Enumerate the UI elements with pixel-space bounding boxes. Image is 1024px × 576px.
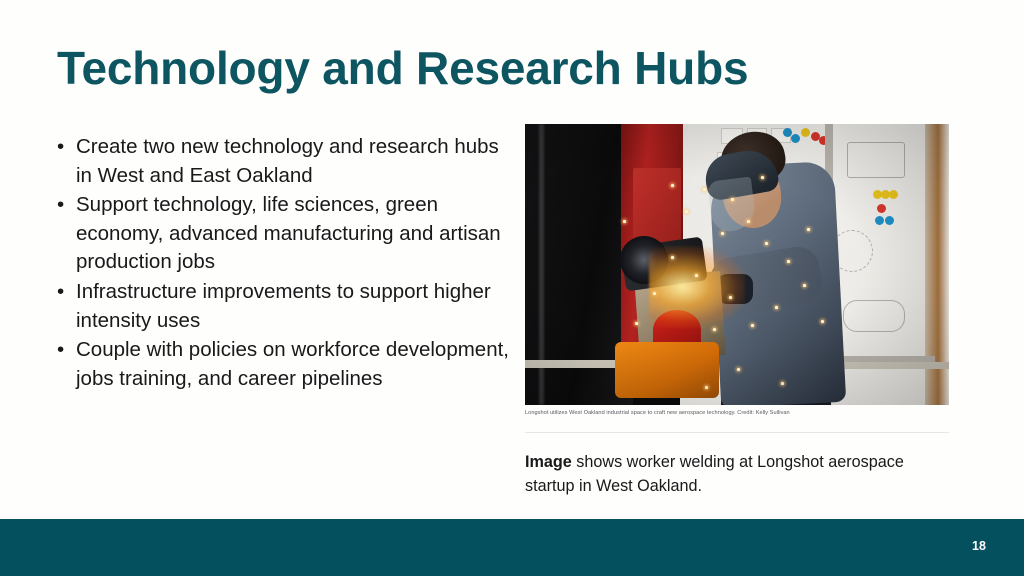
list-item-text: Create two new technology and research h… <box>76 135 499 187</box>
photo-layer-magnet <box>801 128 810 137</box>
photo-layer-spark <box>685 210 688 213</box>
photo-layer-spark <box>729 296 732 299</box>
photo-layer-spark <box>821 320 824 323</box>
photo-layer-spark <box>671 256 674 259</box>
photo-layer-magnet <box>885 216 894 225</box>
photo-credit-caption: Longshot utilizes West Oakland industria… <box>525 409 949 418</box>
photo-layer-magnet <box>889 190 898 199</box>
bullet-marker-icon: • <box>57 191 64 220</box>
photo-layer-spark <box>713 328 716 331</box>
photo-layer-magnet <box>877 204 886 213</box>
photo-layer-spark <box>623 220 626 223</box>
bullet-marker-icon: • <box>57 278 64 307</box>
photo-layer-spark <box>703 188 706 191</box>
photo-layer-vise <box>615 342 719 398</box>
photo-layer-spark <box>653 292 656 295</box>
photo-layer-spark <box>731 198 734 201</box>
photo-layer-magnet <box>791 134 800 143</box>
photo-layer-spark <box>705 386 708 389</box>
photo-description-label: Image <box>525 453 572 471</box>
list-item-text: Couple with policies on workforce develo… <box>76 338 509 390</box>
photo-layer-sketch <box>847 142 905 178</box>
photo-layer-spark <box>721 232 724 235</box>
list-item: • Infrastructure improvements to support… <box>50 278 520 335</box>
photo-layer-spark <box>765 242 768 245</box>
list-item-text: Infrastructure improvements to support h… <box>76 280 491 332</box>
photo-layer-spark <box>635 322 638 325</box>
photo-layer-spark <box>781 382 784 385</box>
page-title: Technology and Research Hubs <box>57 43 937 94</box>
photo-layer-spark-flare <box>649 246 745 328</box>
footer-bar: 18 <box>0 519 1024 576</box>
bullet-list: • Create two new technology and research… <box>50 133 520 394</box>
photo-block: Longshot utilizes West Oakland industria… <box>525 124 949 498</box>
photo-layer-spark <box>803 284 806 287</box>
photo-layer-spark <box>671 184 674 187</box>
bullet-marker-icon: • <box>57 336 64 365</box>
list-item: • Couple with policies on workforce deve… <box>50 336 520 393</box>
page-number: 18 <box>934 539 1024 553</box>
photo-layer-spark <box>695 274 698 277</box>
bullet-marker-icon: • <box>57 133 64 162</box>
photo-welder-image <box>525 124 949 405</box>
divider <box>525 432 949 433</box>
photo-description: Image shows worker welding at Longshot a… <box>525 450 925 498</box>
photo-layer-spark <box>775 306 778 309</box>
photo-layer-spark <box>737 368 740 371</box>
list-item: • Support technology, life sciences, gre… <box>50 191 520 277</box>
photo-layer-spark <box>761 176 764 179</box>
photo-layer-sketch <box>843 300 905 332</box>
photo-layer-spark <box>787 260 790 263</box>
photo-layer-spark <box>747 220 750 223</box>
photo-layer-spark <box>751 324 754 327</box>
slide-canvas: Technology and Research Hubs • Create tw… <box>0 0 1024 576</box>
photo-layer-magnet <box>875 216 884 225</box>
list-item-text: Support technology, life sciences, green… <box>76 193 501 273</box>
list-item: • Create two new technology and research… <box>50 133 520 190</box>
photo-description-text: shows worker welding at Longshot aerospa… <box>525 453 904 495</box>
photo-layer-spark <box>807 228 810 231</box>
